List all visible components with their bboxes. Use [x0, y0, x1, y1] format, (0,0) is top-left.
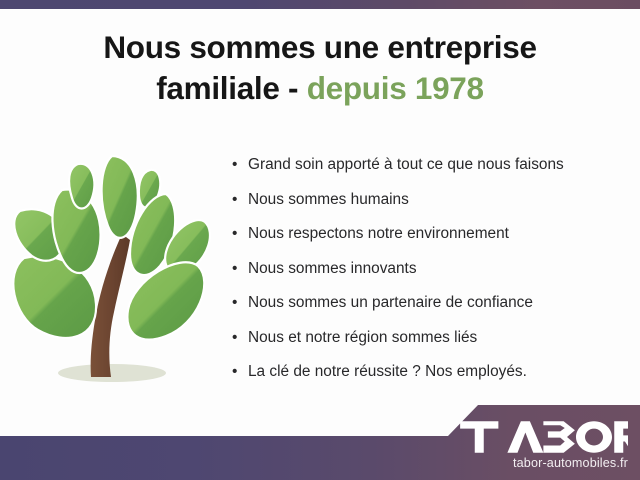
list-item-label: Nous et notre région sommes liés: [248, 329, 477, 346]
page-title-line-2-prefix: familiale -: [156, 70, 306, 106]
list-item: •Nous et notre région sommes liés: [228, 321, 628, 356]
bullet-icon: •: [232, 321, 237, 356]
tree-shadow: [58, 364, 166, 382]
page-title: Nous sommes une entreprise familiale - d…: [0, 27, 640, 110]
bullet-icon: •: [232, 252, 237, 287]
tabor-wordmark-icon: [459, 419, 628, 455]
website-url[interactable]: tabor-automobiles.fr: [459, 456, 628, 470]
list-item: •Nous sommes innovants: [228, 252, 628, 287]
list-item-label: Nous sommes un partenaire de confiance: [248, 294, 533, 311]
leaf: [102, 156, 138, 238]
bullet-icon: •: [232, 217, 237, 252]
bullet-icon: •: [232, 148, 237, 183]
tree-illustration: [8, 148, 220, 393]
list-item: •Grand soin apporté à tout ce que nous f…: [228, 148, 628, 183]
list-item-label: Nous sommes innovants: [248, 260, 417, 277]
list-item-label: Grand soin apporté à tout ce que nous fa…: [248, 156, 564, 173]
bullet-icon: •: [232, 183, 237, 218]
bullet-icon: •: [232, 286, 237, 321]
list-item: •Nous sommes un partenaire de confiance: [228, 286, 628, 321]
list-item: •Nous sommes humains: [228, 183, 628, 218]
list-item: •Nous respectons notre environnement: [228, 217, 628, 252]
page-title-line-2-accent: depuis 1978: [307, 70, 484, 106]
list-item-label: Nous sommes humains: [248, 191, 409, 208]
list-item: •La clé de notre réussite ? Nos employés…: [228, 355, 628, 390]
top-accent-bar: [0, 0, 640, 9]
page-title-line-1: Nous sommes une entreprise: [103, 29, 536, 65]
slide-canvas: Nous sommes une entreprise familiale - d…: [0, 0, 640, 480]
brand-logo[interactable]: tabor-automobiles.fr: [459, 419, 628, 470]
list-item-label: La clé de notre réussite ? Nos employés.: [248, 363, 527, 380]
bullet-icon: •: [232, 355, 237, 390]
value-proposition-list: •Grand soin apporté à tout ce que nous f…: [228, 148, 628, 390]
leaf: [69, 164, 94, 209]
list-item-label: Nous respectons notre environnement: [248, 225, 509, 242]
